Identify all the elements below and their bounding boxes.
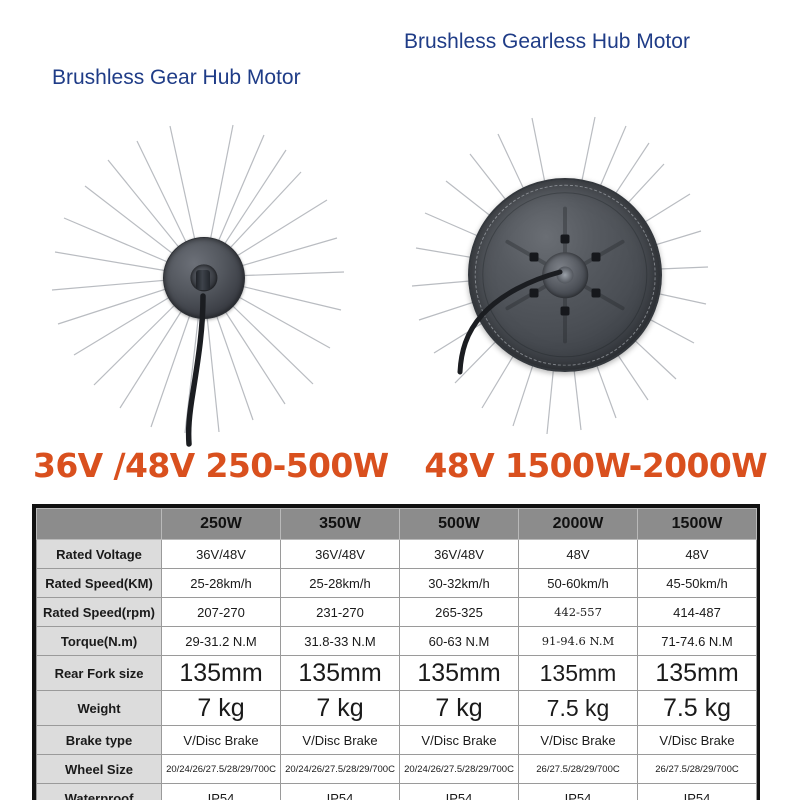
row-label-torque: Torque(N.m) [37, 627, 162, 656]
cell-brake-type-500w: V/Disc Brake [400, 726, 519, 755]
cell-rear-fork-size-350w: 135mm [281, 656, 400, 691]
row-label-wheel-size: Wheel Size [37, 755, 162, 784]
cell-rear-fork-size-2000w: 135mm [519, 656, 638, 691]
headline-left-text: 36V /48V 250-500W [33, 446, 389, 485]
column-header-350w: 350W [281, 509, 400, 540]
cell-weight-500w: 7 kg [400, 691, 519, 726]
cell-wheel-size-350w: 20/24/26/27.5/28/29/700C [281, 755, 400, 784]
table-row: Brake type V/Disc Brake V/Disc Brake V/D… [37, 726, 757, 755]
cell-rated-voltage-500w: 36V/48V [400, 540, 519, 569]
cell-rated-speed-rpm-1500w: 414-487 [638, 598, 757, 627]
column-header-2000w: 2000W [519, 509, 638, 540]
table-row: Torque(N.m) 29-31.2 N.M 31.8-33 N.M 60-6… [37, 627, 757, 656]
cell-rated-voltage-250w: 36V/48V [162, 540, 281, 569]
cell-wheel-size-250w: 20/24/26/27.5/28/29/700C [162, 755, 281, 784]
product-spec-page: Brushless Gear Hub Motor Brushless Gearl… [0, 0, 800, 800]
column-header-500w: 500W [400, 509, 519, 540]
cell-rated-speed-km-350w: 25-28km/h [281, 569, 400, 598]
table-corner-cell [37, 509, 162, 540]
cell-rated-speed-rpm-350w: 231-270 [281, 598, 400, 627]
row-label-rear-fork-size: Rear Fork size [37, 656, 162, 691]
cell-brake-type-350w: V/Disc Brake [281, 726, 400, 755]
cell-weight-1500w: 7.5 kg [638, 691, 757, 726]
cell-rated-speed-rpm-500w: 265-325 [400, 598, 519, 627]
row-label-waterproof: Waterproof [37, 784, 162, 800]
cell-torque-1500w: 71-74.6 N.M [638, 627, 757, 656]
cell-waterproof-2000w: IP54 [519, 784, 638, 800]
cell-brake-type-1500w: V/Disc Brake [638, 726, 757, 755]
row-label-rated-speed-rpm: Rated Speed(rpm) [37, 598, 162, 627]
power-headline: 36V /48V 250-500W 48V 1500W-2000W [0, 446, 800, 485]
cell-waterproof-250w: IP54 [162, 784, 281, 800]
cell-wheel-size-500w: 20/24/26/27.5/28/29/700C [400, 755, 519, 784]
column-header-1500w: 1500W [638, 509, 757, 540]
cell-torque-2000w: 91-94.6 N.M [519, 627, 638, 656]
cell-weight-250w: 7 kg [162, 691, 281, 726]
cell-wheel-size-1500w: 26/27.5/28/29/700C [638, 755, 757, 784]
cell-rated-speed-km-500w: 30-32km/h [400, 569, 519, 598]
row-label-brake-type: Brake type [37, 726, 162, 755]
table-row: Rear Fork size 135mm 135mm 135mm 135mm 1… [37, 656, 757, 691]
headline-right-text: 48V 1500W-2000W [424, 446, 767, 485]
table-row: Weight 7 kg 7 kg 7 kg 7.5 kg 7.5 kg [37, 691, 757, 726]
table-header-row: 250W 350W 500W 2000W 1500W [37, 509, 757, 540]
table-row: Wheel Size 20/24/26/27.5/28/29/700C 20/2… [37, 755, 757, 784]
cell-rated-voltage-2000w: 48V [519, 540, 638, 569]
cell-rear-fork-size-1500w: 135mm [638, 656, 757, 691]
cell-torque-500w: 60-63 N.M [400, 627, 519, 656]
specification-table: 250W 350W 500W 2000W 1500W Rated Voltage… [32, 504, 760, 800]
cell-waterproof-500w: IP54 [400, 784, 519, 800]
cell-rated-voltage-350w: 36V/48V [281, 540, 400, 569]
cell-rear-fork-size-250w: 135mm [162, 656, 281, 691]
cell-rated-speed-km-1500w: 45-50km/h [638, 569, 757, 598]
row-label-rated-speed-km: Rated Speed(KM) [37, 569, 162, 598]
cell-waterproof-350w: IP54 [281, 784, 400, 800]
cell-rated-speed-km-2000w: 50-60km/h [519, 569, 638, 598]
cell-rear-fork-size-500w: 135mm [400, 656, 519, 691]
cell-weight-350w: 7 kg [281, 691, 400, 726]
table-row: Rated Voltage 36V/48V 36V/48V 36V/48V 48… [37, 540, 757, 569]
column-header-250w: 250W [162, 509, 281, 540]
cell-torque-250w: 29-31.2 N.M [162, 627, 281, 656]
cell-brake-type-2000w: V/Disc Brake [519, 726, 638, 755]
cell-rated-speed-rpm-250w: 207-270 [162, 598, 281, 627]
table-row: Waterproof IP54 IP54 IP54 IP54 IP54 [37, 784, 757, 800]
cell-brake-type-250w: V/Disc Brake [162, 726, 281, 755]
cell-torque-350w: 31.8-33 N.M [281, 627, 400, 656]
row-label-rated-voltage: Rated Voltage [37, 540, 162, 569]
table-row: Rated Speed(rpm) 207-270 231-270 265-325… [37, 598, 757, 627]
table-row: Rated Speed(KM) 25-28km/h 25-28km/h 30-3… [37, 569, 757, 598]
cell-weight-2000w: 7.5 kg [519, 691, 638, 726]
row-label-weight: Weight [37, 691, 162, 726]
cell-wheel-size-2000w: 26/27.5/28/29/700C [519, 755, 638, 784]
cell-rated-speed-km-250w: 25-28km/h [162, 569, 281, 598]
cell-waterproof-1500w: IP54 [638, 784, 757, 800]
cell-rated-speed-rpm-2000w: 442-557 [519, 598, 638, 627]
cell-rated-voltage-1500w: 48V [638, 540, 757, 569]
